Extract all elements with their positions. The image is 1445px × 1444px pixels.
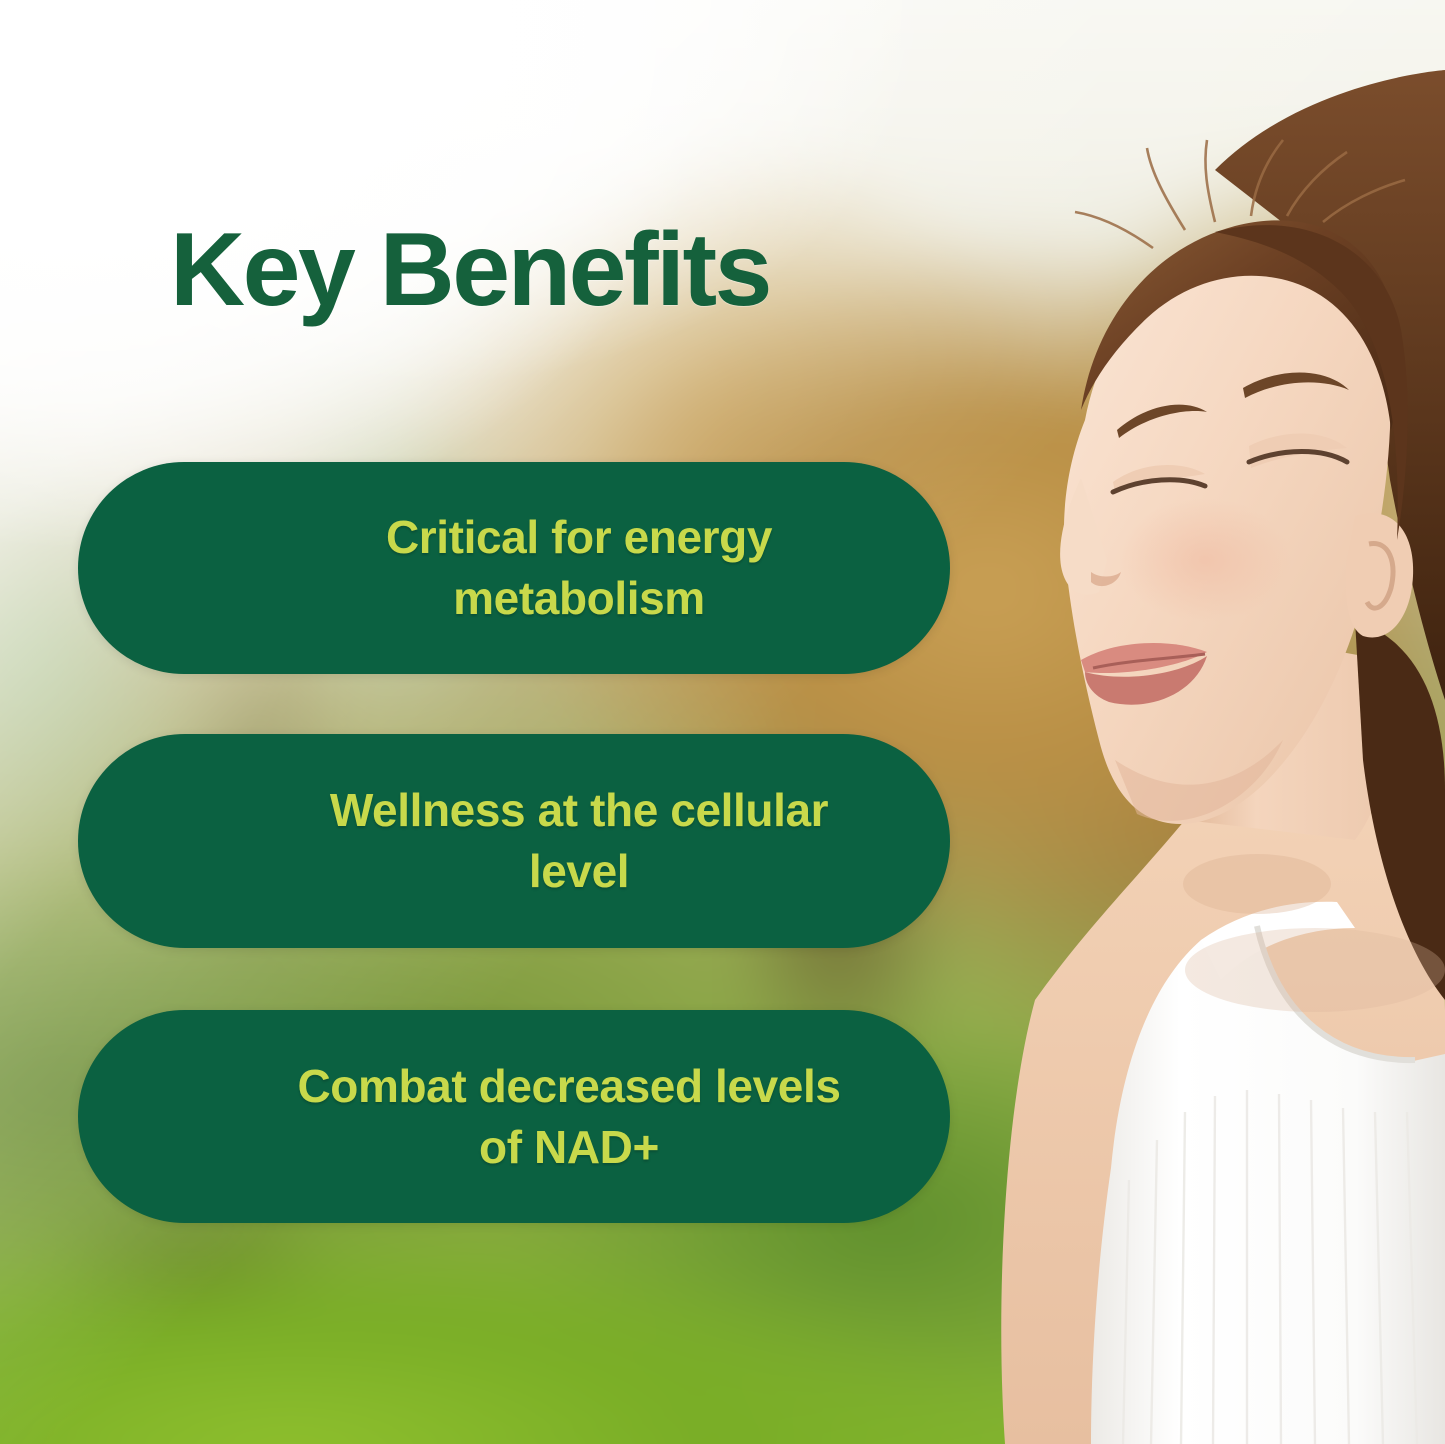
benefit-pill-nad-levels: Combat decreased levels of NAD+ [78, 1010, 950, 1223]
cheek-highlight [1119, 498, 1291, 622]
ear-shape [1346, 513, 1414, 637]
benefit-text: Combat decreased levels of NAD+ [179, 1056, 849, 1177]
key-benefits-graphic: Key Benefits Critical for energy metabol… [0, 0, 1445, 1444]
benefit-text: Wellness at the cellular level [169, 780, 859, 901]
page-title: Key Benefits [170, 218, 770, 322]
benefit-text: Critical for energy metabolism [169, 507, 859, 628]
benefit-pill-cellular-wellness: Wellness at the cellular level [78, 734, 950, 948]
clavicle-hollow [1183, 854, 1331, 914]
subject-photo-woman [885, 0, 1445, 1444]
benefit-pill-energy-metabolism: Critical for energy metabolism [78, 462, 950, 674]
collarbone-shadow [1185, 928, 1445, 1012]
